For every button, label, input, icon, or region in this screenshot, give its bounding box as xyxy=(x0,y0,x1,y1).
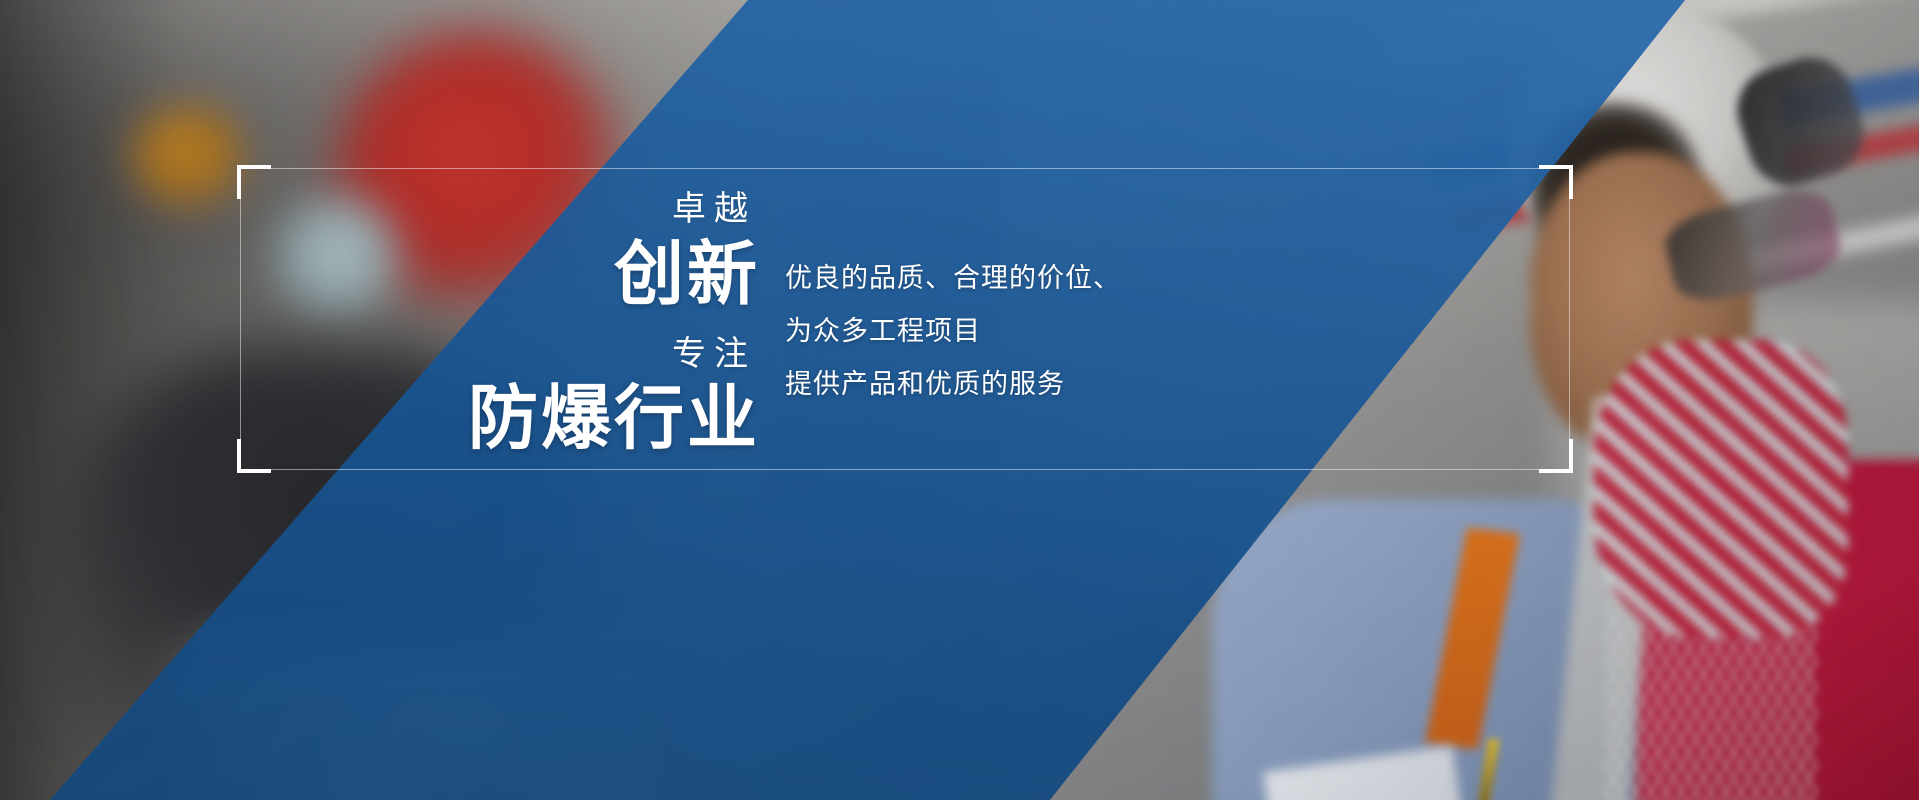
description-line-1: 优良的品质、合理的价位、 xyxy=(785,252,1121,305)
description-block: 优良的品质、合理的价位、 为众多工程项目 提供产品和优质的服务 xyxy=(785,252,1121,411)
description-line-3: 提供产品和优质的服务 xyxy=(785,358,1121,411)
description-line-2: 为众多工程项目 xyxy=(785,305,1121,358)
headline-line-2: 创新 xyxy=(330,232,760,317)
headline-line-3: 专注 xyxy=(330,333,760,377)
banner-content: 卓越 创新 专注 防爆行业 优良的品质、合理的价位、 为众多工程项目 提供产品和… xyxy=(0,0,1919,800)
headline-block: 卓越 创新 专注 防爆行业 xyxy=(330,188,760,462)
hero-banner: 卓越 创新 专注 防爆行业 优良的品质、合理的价位、 为众多工程项目 提供产品和… xyxy=(0,0,1919,800)
headline-line-4: 防爆行业 xyxy=(330,376,760,461)
headline-line-1: 卓越 xyxy=(330,188,760,232)
headline-spacer xyxy=(330,317,760,333)
